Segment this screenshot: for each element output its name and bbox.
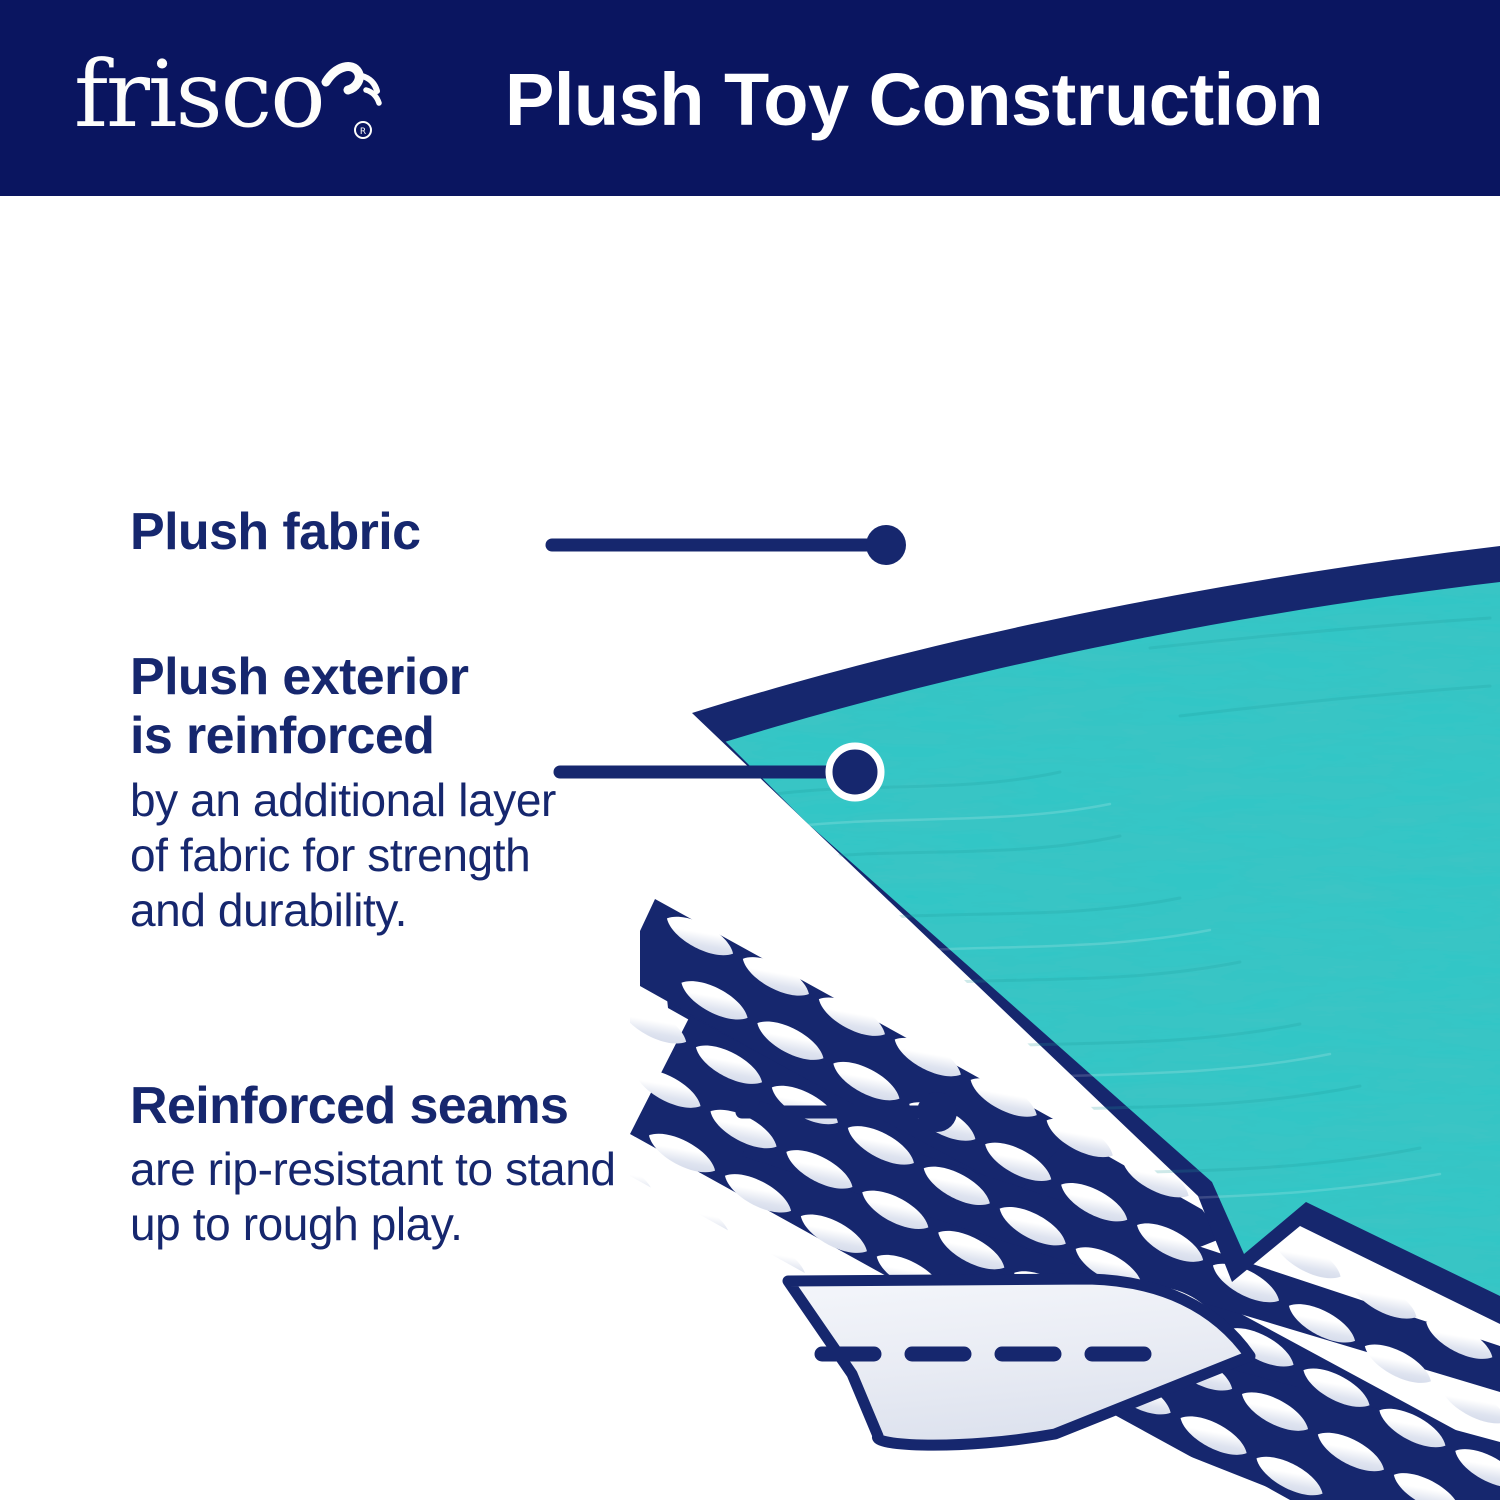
mesh-opening	[777, 1422, 855, 1479]
mesh-opening	[672, 1253, 750, 1310]
callout-reinforced-seams-body: are rip-resistant to stand up to rough p…	[130, 1142, 790, 1252]
callout-reinforced-seams: Reinforced seams are rip-resistant to st…	[130, 1077, 790, 1253]
mesh-opening	[625, 1341, 703, 1398]
mesh-opening	[701, 1382, 779, 1439]
callout-plush-exterior-body: by an additional layer of fabric for str…	[130, 773, 730, 939]
svg-text:R: R	[360, 127, 366, 137]
mesh-opening	[1052, 1455, 1130, 1500]
callout-plush-exterior: Plush exterior is reinforced by an addit…	[130, 648, 730, 938]
leader-plush-fabric	[552, 525, 906, 565]
mesh-opening	[611, 1277, 689, 1334]
leader-dot-plush-exterior	[829, 746, 881, 798]
callout-plush-exterior-heading: Plush exterior is reinforced	[130, 648, 730, 767]
mesh-opening	[687, 1318, 765, 1375]
header-bar: frisco R Plush Toy Construction	[0, 0, 1500, 196]
mesh-opening	[763, 1358, 841, 1415]
mesh-opening	[853, 1463, 931, 1500]
callout-reinforced-seams-heading: Reinforced seams	[130, 1077, 790, 1136]
leader-dot-reinforced-seams	[917, 1092, 957, 1132]
callout-plush-fabric-heading: Plush fabric	[130, 503, 600, 562]
infographic-page: frisco R Plush Toy Construction	[0, 0, 1500, 1500]
leader-dot-plush-fabric	[866, 525, 906, 565]
frisco-logo: frisco R	[74, 46, 384, 154]
svg-text:frisco: frisco	[74, 46, 324, 148]
page-title: Plush Toy Construction	[505, 46, 1405, 154]
callout-plush-fabric: Plush fabric	[130, 503, 600, 562]
mesh-opening	[990, 1479, 1068, 1500]
